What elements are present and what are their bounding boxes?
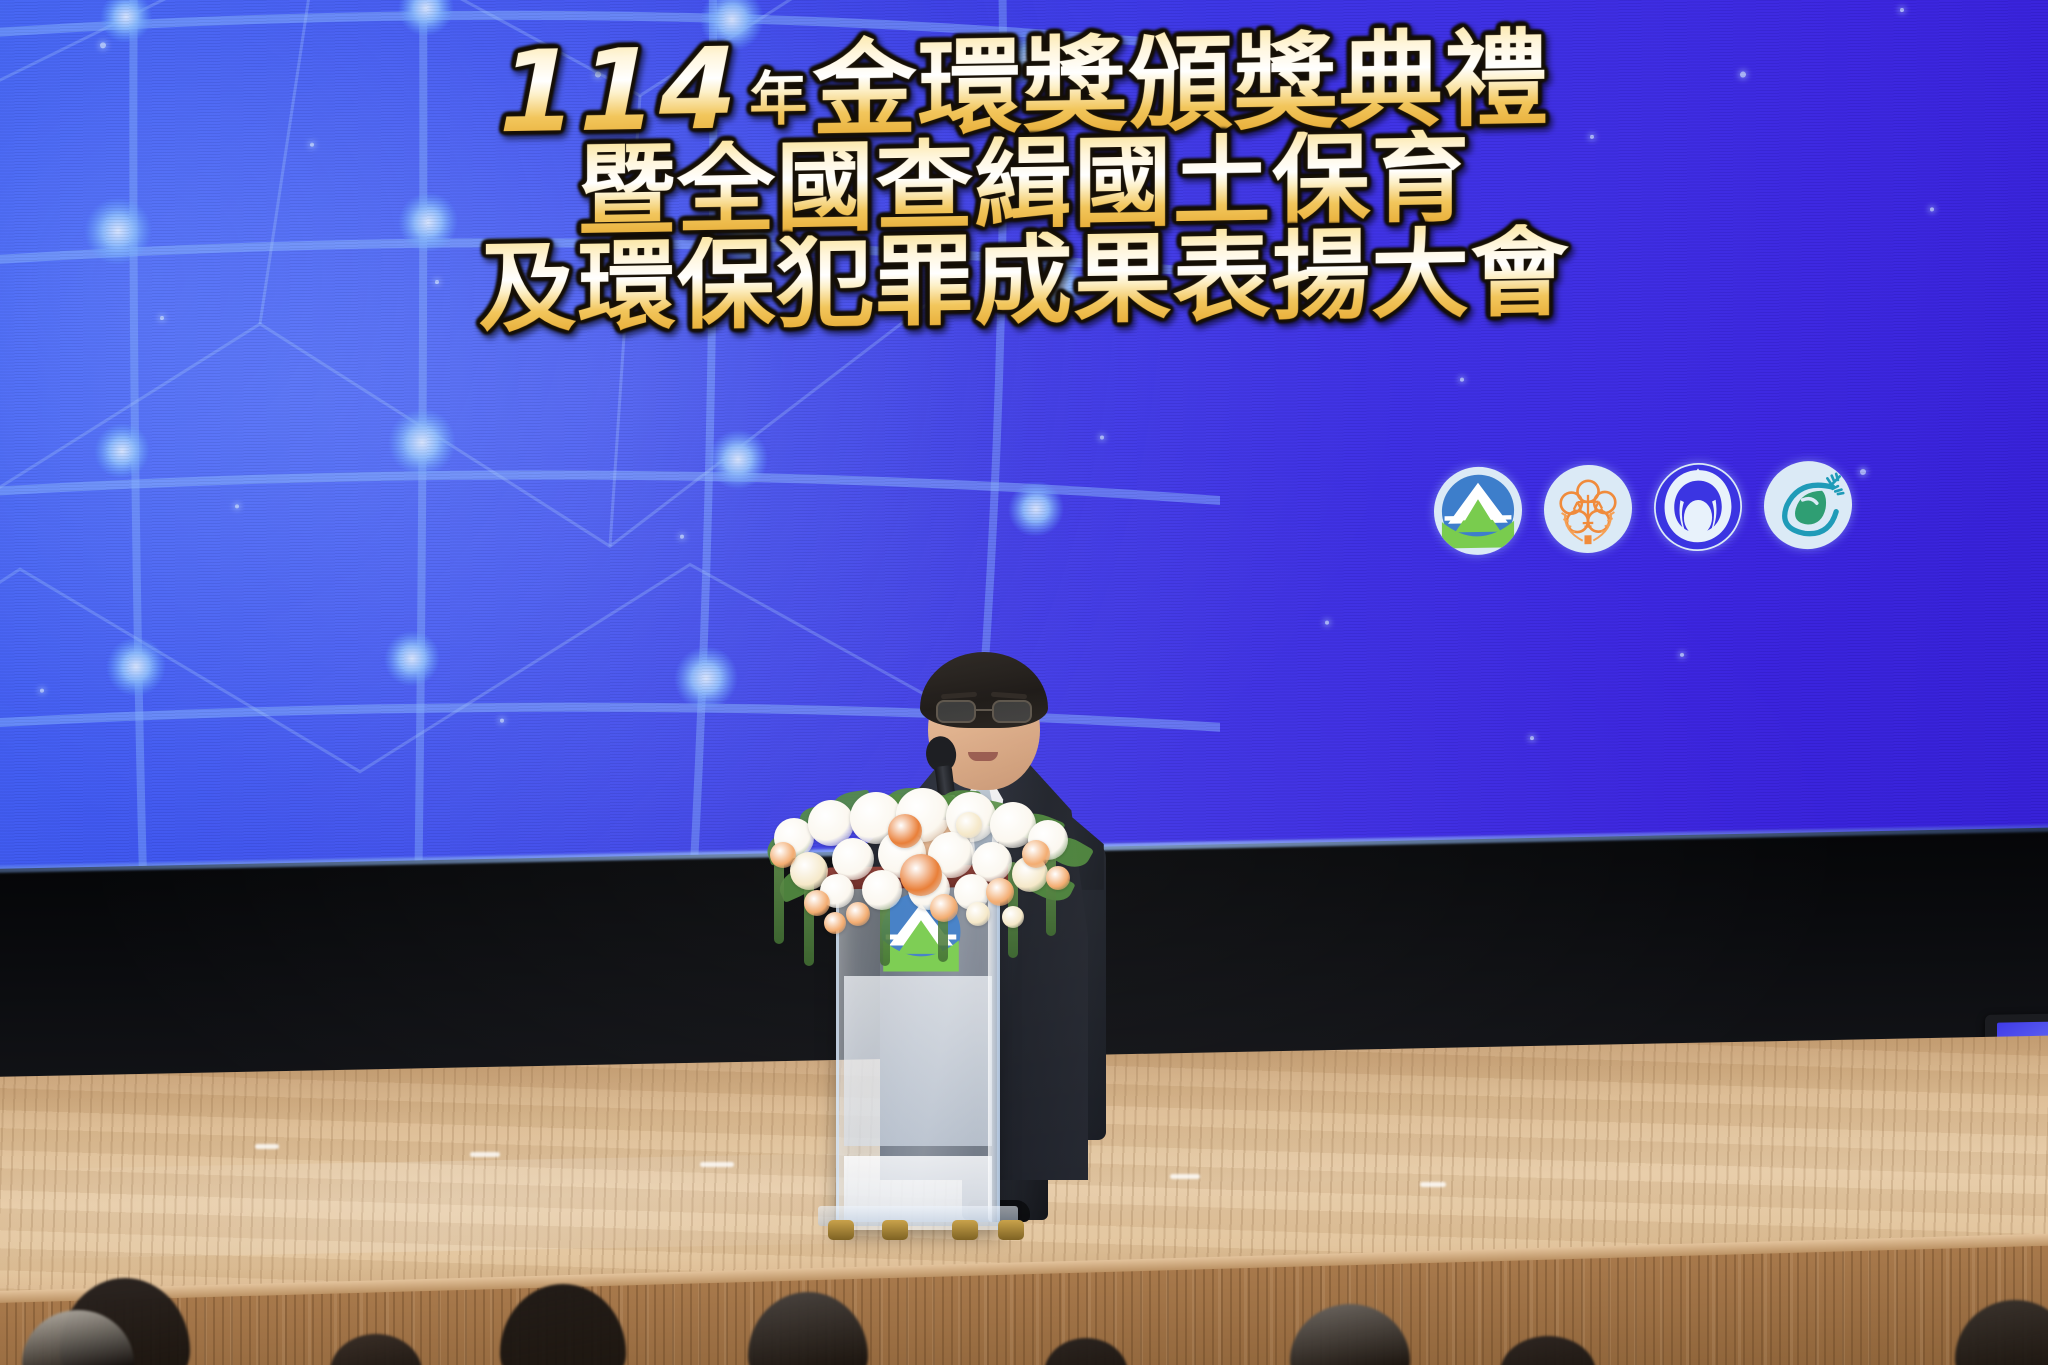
podium-caster xyxy=(882,1220,908,1240)
audience-head xyxy=(1500,1336,1596,1365)
audience-head xyxy=(330,1334,422,1365)
flower-bloom xyxy=(966,902,990,926)
logo-forestry-agency xyxy=(1764,460,1852,550)
flower-bloom xyxy=(900,854,942,896)
audience-head xyxy=(1044,1338,1128,1365)
audience-head xyxy=(1955,1300,2048,1365)
speaker-mouth xyxy=(968,752,998,761)
flower-bloom xyxy=(770,842,796,868)
title-year-suffix: 年 xyxy=(749,64,808,133)
audience-row xyxy=(0,1268,2048,1365)
speaker-glasses-icon xyxy=(936,700,1032,724)
flower-bloom xyxy=(1002,906,1024,928)
event-title-block: 114年金環獎頒獎典禮 暨全國查緝國土保育 及環保犯罪成果表揚大會 xyxy=(0,12,2048,348)
logo-police-agency xyxy=(1654,462,1742,552)
conference-stage-photo: 114年金環獎頒獎典禮 暨全國查緝國土保育 及環保犯罪成果表揚大會 xyxy=(0,0,2048,1365)
flower-bloom xyxy=(846,902,870,926)
flower-bloom xyxy=(1046,866,1070,890)
audience-head xyxy=(748,1292,868,1365)
flower-bloom xyxy=(1022,840,1050,868)
podium-caster xyxy=(998,1220,1024,1240)
podium-caster xyxy=(952,1220,978,1240)
logo-moenv-mountain xyxy=(1434,466,1522,556)
flower-bloom xyxy=(956,812,982,838)
podium-caster xyxy=(828,1220,854,1240)
audience-head xyxy=(500,1284,626,1365)
agency-logo-row xyxy=(1434,460,1852,555)
flower-bloom xyxy=(986,878,1014,906)
flower-bloom xyxy=(824,912,846,934)
flower-bloom xyxy=(930,894,958,922)
audience-head xyxy=(1290,1304,1410,1365)
logo-prosecutors-plum xyxy=(1544,464,1632,554)
flower-bloom xyxy=(804,890,830,916)
flower-bloom xyxy=(888,814,922,848)
podium-flower-arrangement xyxy=(760,778,1080,958)
flower-bloom xyxy=(862,870,902,910)
